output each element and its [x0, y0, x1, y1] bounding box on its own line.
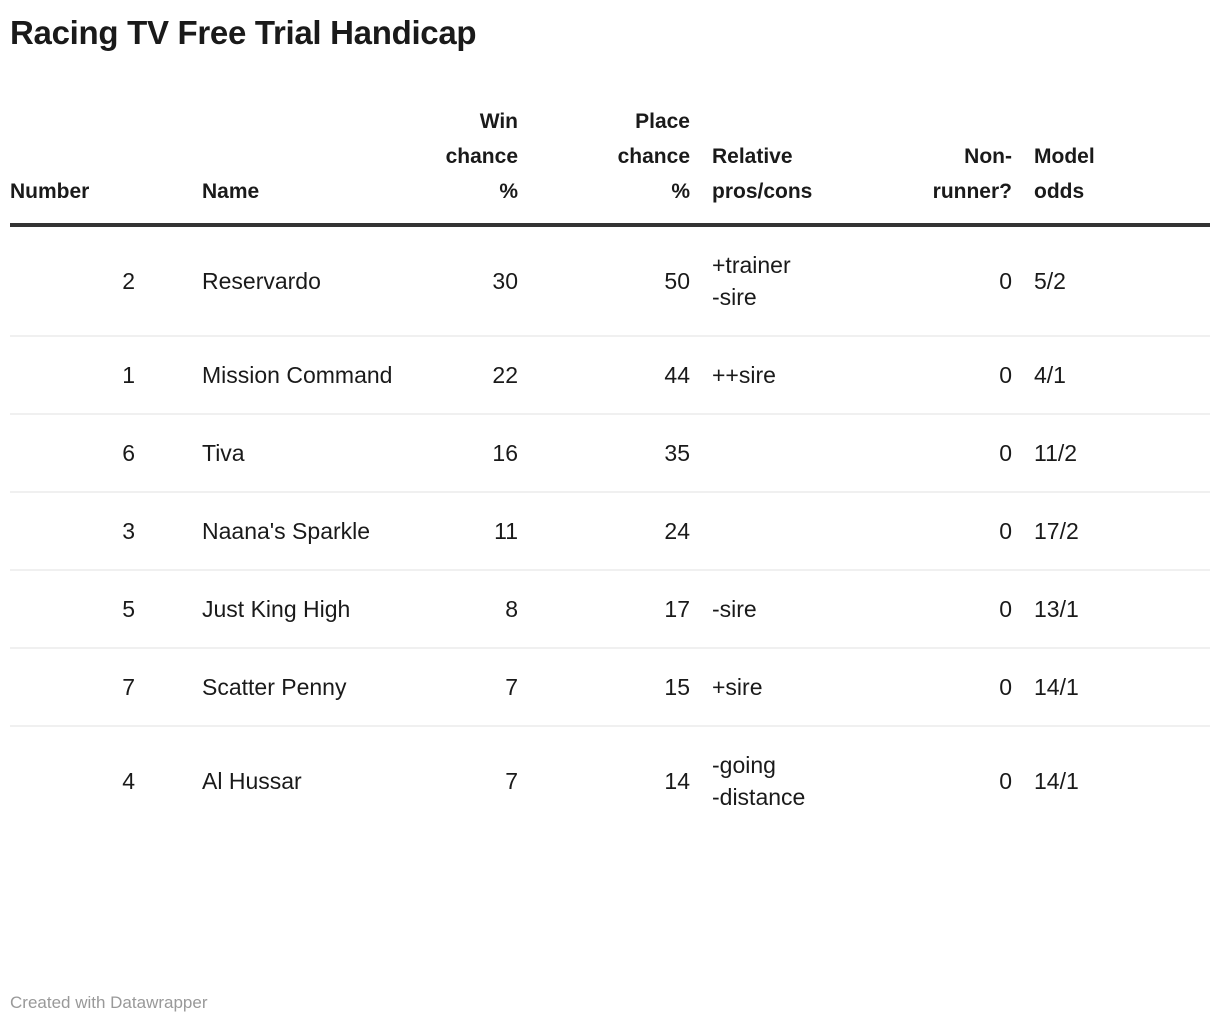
cell-place: 17 [518, 570, 690, 648]
cell-non-runner: 0 [902, 225, 1012, 336]
table-row: 1 Mission Command 22 44 ++sire 0 4/1 [10, 336, 1210, 414]
cell-win-text: 11 [406, 515, 518, 547]
table-row: 2 Reservardo 30 50 +trainer -sire 0 5/2 [10, 225, 1210, 336]
cell-name: Scatter Penny [186, 648, 406, 726]
cell-non-runner-text: 0 [902, 593, 1012, 625]
cell-name-text: Tiva [202, 437, 406, 469]
column-header-win-chance[interactable]: Win chance % [406, 104, 518, 225]
cell-name: Mission Command [186, 336, 406, 414]
cell-place-text: 44 [518, 359, 690, 391]
cell-place-text: 50 [518, 265, 690, 297]
cell-model-odds-text: 17/2 [1034, 515, 1210, 547]
cell-name-text: Mission Command [202, 359, 406, 391]
cell-pros-cons: +sire [690, 648, 902, 726]
cell-non-runner-text: 0 [902, 765, 1012, 797]
cell-model-odds-text: 11/2 [1034, 437, 1210, 469]
cell-model-odds-text: 5/2 [1034, 265, 1210, 297]
cell-non-runner: 0 [902, 570, 1012, 648]
cell-model-odds: 14/1 [1012, 648, 1210, 726]
cell-pros-cons-text: -going -distance [712, 749, 902, 813]
cell-non-runner: 0 [902, 414, 1012, 492]
cell-number: 6 [10, 414, 186, 492]
column-header-number[interactable]: Number [10, 104, 186, 225]
cell-place: 50 [518, 225, 690, 336]
cell-non-runner-text: 0 [902, 671, 1012, 703]
table-row: 6 Tiva 16 35 0 11/2 [10, 414, 1210, 492]
cell-name: Al Hussar [186, 726, 406, 835]
cell-place: 24 [518, 492, 690, 570]
cell-number: 5 [10, 570, 186, 648]
cell-name-text: Al Hussar [202, 765, 406, 797]
cell-pros-cons: ++sire [690, 336, 902, 414]
cell-win: 11 [406, 492, 518, 570]
cell-pros-cons [690, 414, 902, 492]
cell-number-text: 6 [10, 437, 135, 469]
cell-win-text: 30 [406, 265, 518, 297]
cell-place: 14 [518, 726, 690, 835]
cell-number: 3 [10, 492, 186, 570]
cell-model-odds: 13/1 [1012, 570, 1210, 648]
cell-model-odds-text: 14/1 [1034, 671, 1210, 703]
cell-model-odds-text: 13/1 [1034, 593, 1210, 625]
column-header-name[interactable]: Name [186, 104, 406, 225]
column-header-place-chance-label: Place chance % [518, 104, 690, 209]
table-row: 3 Naana's Sparkle 11 24 0 17/2 [10, 492, 1210, 570]
datawrapper-credit[interactable]: Created with Datawrapper [10, 992, 207, 1014]
cell-non-runner: 0 [902, 336, 1012, 414]
cell-pros-cons-text: +sire [712, 671, 902, 703]
column-header-name-label: Name [202, 174, 406, 209]
cell-model-odds-text: 4/1 [1034, 359, 1210, 391]
table-container: Number Name Win chance % Place chance % … [0, 104, 1220, 835]
cell-number-text: 7 [10, 671, 135, 703]
cell-place-text: 17 [518, 593, 690, 625]
column-header-non-runner-label: Non- runner? [902, 139, 1012, 209]
cell-name-text: Reservardo [202, 265, 406, 297]
cell-pros-cons: -going -distance [690, 726, 902, 835]
table-header: Number Name Win chance % Place chance % … [10, 104, 1210, 225]
cell-pros-cons: +trainer -sire [690, 225, 902, 336]
cell-pros-cons-text: ++sire [712, 359, 902, 391]
table-header-row: Number Name Win chance % Place chance % … [10, 104, 1210, 225]
cell-place-text: 15 [518, 671, 690, 703]
column-header-number-label: Number [10, 174, 186, 209]
cell-number-text: 1 [10, 359, 135, 391]
cell-win-text: 8 [406, 593, 518, 625]
cell-name: Naana's Sparkle [186, 492, 406, 570]
column-header-model-odds-label: Model odds [1034, 139, 1210, 209]
cell-place-text: 14 [518, 765, 690, 797]
column-header-pros-cons-label: Relative pros/cons [712, 139, 902, 209]
column-header-non-runner[interactable]: Non- runner? [902, 104, 1012, 225]
cell-model-odds: 5/2 [1012, 225, 1210, 336]
cell-name: Tiva [186, 414, 406, 492]
cell-model-odds: 17/2 [1012, 492, 1210, 570]
cell-pros-cons: -sire [690, 570, 902, 648]
cell-win-text: 7 [406, 671, 518, 703]
table-row: 5 Just King High 8 17 -sire 0 13/1 [10, 570, 1210, 648]
cell-win: 8 [406, 570, 518, 648]
page-title: Racing TV Free Trial Handicap [10, 12, 476, 54]
table-row: 4 Al Hussar 7 14 -going -distance 0 14/1 [10, 726, 1210, 835]
cell-place: 44 [518, 336, 690, 414]
cell-name: Just King High [186, 570, 406, 648]
handicap-table: Number Name Win chance % Place chance % … [10, 104, 1210, 835]
cell-win: 30 [406, 225, 518, 336]
cell-non-runner: 0 [902, 648, 1012, 726]
cell-pros-cons [690, 492, 902, 570]
cell-pros-cons-text: +trainer -sire [712, 249, 902, 313]
cell-non-runner: 0 [902, 726, 1012, 835]
cell-win-text: 22 [406, 359, 518, 391]
cell-win: 7 [406, 726, 518, 835]
column-header-pros-cons[interactable]: Relative pros/cons [690, 104, 902, 225]
cell-name-text: Naana's Sparkle [202, 515, 406, 547]
cell-non-runner-text: 0 [902, 265, 1012, 297]
cell-win-text: 16 [406, 437, 518, 469]
cell-win: 22 [406, 336, 518, 414]
datawrapper-table-page: Racing TV Free Trial Handicap Number Nam… [0, 0, 1220, 1028]
cell-number-text: 4 [10, 765, 135, 797]
cell-non-runner-text: 0 [902, 437, 1012, 469]
cell-place: 35 [518, 414, 690, 492]
cell-win: 16 [406, 414, 518, 492]
column-header-model-odds[interactable]: Model odds [1012, 104, 1210, 225]
cell-place-text: 24 [518, 515, 690, 547]
cell-non-runner: 0 [902, 492, 1012, 570]
cell-model-odds: 14/1 [1012, 726, 1210, 835]
cell-number-text: 3 [10, 515, 135, 547]
table-row: 7 Scatter Penny 7 15 +sire 0 14/1 [10, 648, 1210, 726]
cell-number: 4 [10, 726, 186, 835]
cell-name: Reservardo [186, 225, 406, 336]
cell-win: 7 [406, 648, 518, 726]
cell-name-text: Just King High [202, 593, 406, 625]
cell-model-odds: 4/1 [1012, 336, 1210, 414]
cell-non-runner-text: 0 [902, 359, 1012, 391]
cell-model-odds-text: 14/1 [1034, 765, 1210, 797]
cell-number: 7 [10, 648, 186, 726]
table-body: 2 Reservardo 30 50 +trainer -sire 0 5/2 … [10, 225, 1210, 835]
cell-place: 15 [518, 648, 690, 726]
column-header-place-chance[interactable]: Place chance % [518, 104, 690, 225]
column-header-win-chance-label: Win chance % [406, 104, 518, 209]
cell-non-runner-text: 0 [902, 515, 1012, 547]
cell-number-text: 2 [10, 265, 135, 297]
cell-place-text: 35 [518, 437, 690, 469]
cell-number-text: 5 [10, 593, 135, 625]
cell-model-odds: 11/2 [1012, 414, 1210, 492]
cell-name-text: Scatter Penny [202, 671, 406, 703]
cell-win-text: 7 [406, 765, 518, 797]
cell-pros-cons-text: -sire [712, 593, 902, 625]
cell-number: 2 [10, 225, 186, 336]
cell-number: 1 [10, 336, 186, 414]
